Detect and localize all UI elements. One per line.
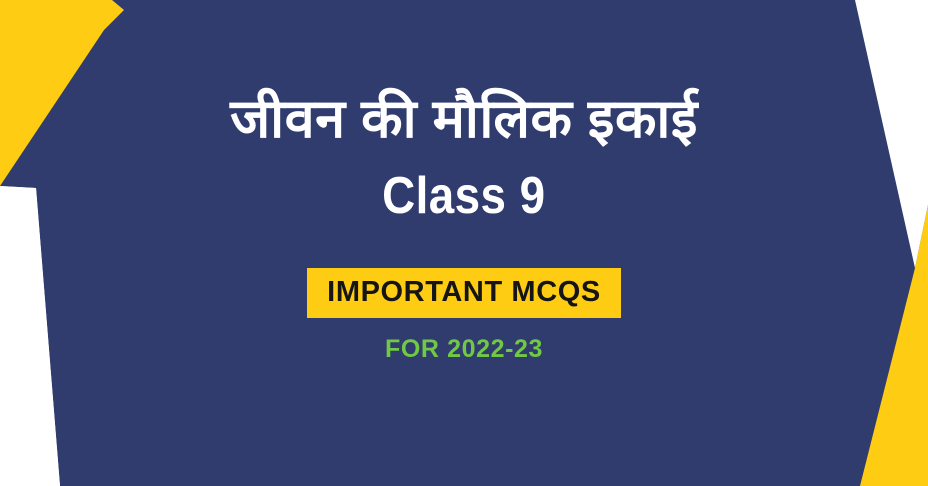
page-subtitle-class: Class 9 xyxy=(382,170,545,222)
banner-content: जीवन की मौलिक इकाई Class 9 IMPORTANT MCQ… xyxy=(0,0,928,486)
course-banner: जीवन की मौलिक इकाई Class 9 IMPORTANT MCQ… xyxy=(0,0,928,486)
important-mcqs-badge: IMPORTANT MCQS xyxy=(307,268,621,318)
page-title-hindi: जीवन की मौलिक इकाई xyxy=(230,92,698,146)
academic-year-label: FOR 2022-23 xyxy=(385,337,543,362)
